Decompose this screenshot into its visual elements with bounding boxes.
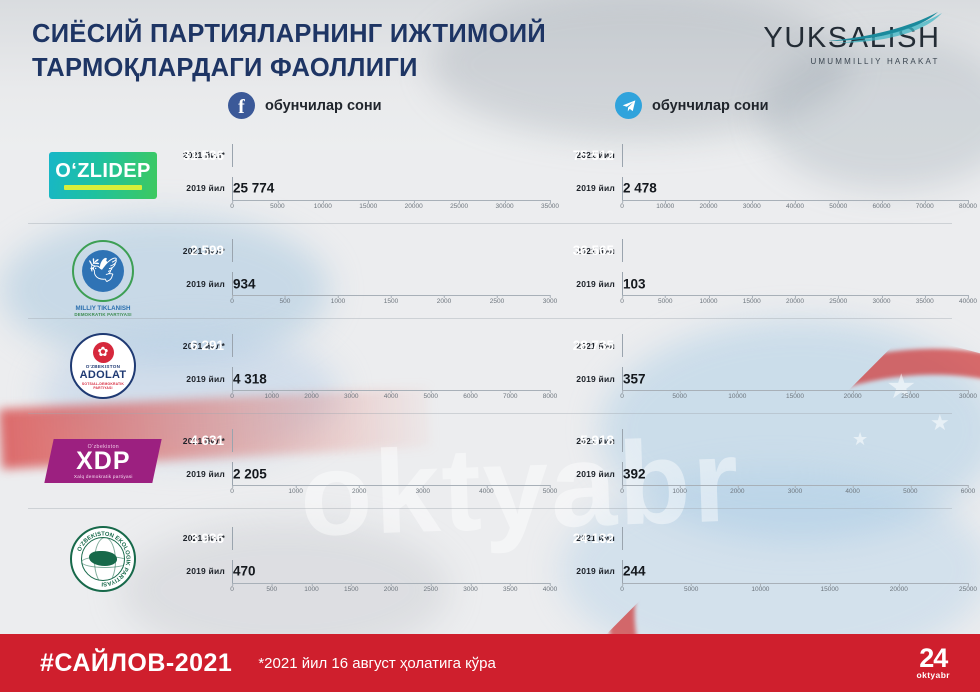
bar-label: 2019 йил <box>568 566 622 576</box>
axis-tick: 10000 <box>656 203 674 210</box>
bar-value: 4 631 <box>190 433 233 448</box>
adolat-logo-text: ADOLAT <box>80 370 127 381</box>
channel-number: 24 <box>916 646 950 670</box>
bar-value: 28 735 <box>573 338 623 353</box>
axis-tick: 2000 <box>384 586 398 593</box>
axis-tick: 0 <box>620 488 624 495</box>
axis-tick: 20000 <box>786 298 804 305</box>
bar-label: 2019 йил <box>568 279 622 289</box>
axis-tick: 6000 <box>961 488 975 495</box>
axis-tick: 5000 <box>672 393 686 400</box>
axis-tick: 1500 <box>384 298 398 305</box>
axis-tick: 3000 <box>344 393 358 400</box>
party-logo-ekologik: O‘ZBEKISTON EKOLOGIK PARTIYASI <box>28 509 178 608</box>
adolat-logo-top: O‘ZBEKISTON <box>86 364 121 369</box>
bar-value: 4 318 <box>233 371 267 386</box>
axis-tick: 30000 <box>743 203 761 210</box>
bar-value: 31 536 <box>183 148 233 163</box>
axis-tick: 30000 <box>872 298 890 305</box>
axis-tick: 15000 <box>821 586 839 593</box>
axis-tick: 5000 <box>543 488 557 495</box>
party-logo-xdp: O‘zbekiston XDP Xalq demokratik partiyas… <box>28 414 178 508</box>
axis-tick: 15000 <box>359 203 377 210</box>
yuksalish-logo-subtitle: UMUMMILLIY HARAKAT <box>798 57 952 66</box>
chart-ekologik-telegram: 2021 йил 24 132 2019 йил 244 0 5000 1000… <box>568 522 968 596</box>
axis-tick: 10000 <box>728 393 746 400</box>
facebook-header-label: обунчилар сони <box>265 98 382 114</box>
party-row-xdp: O‘zbekiston XDP Xalq demokratik partiyas… <box>28 413 952 508</box>
axis-tick: 4000 <box>543 586 557 593</box>
axis-tick: 3000 <box>416 488 430 495</box>
axis-tick: 2000 <box>304 393 318 400</box>
axis-tick: 8000 <box>543 393 557 400</box>
axis-tick: 10000 <box>699 298 717 305</box>
bar-label: 2019 йил <box>178 183 232 193</box>
party-row-adolat: ✿ O‘ZBEKISTON ADOLAT SOTSIAL-DEMOKRATIK … <box>28 318 952 413</box>
axis-tick: 5000 <box>424 393 438 400</box>
chart-milliy-facebook: 2021 йил* 2 599 2019 йил 934 0 500 1000 … <box>178 234 550 308</box>
axis-tick: 0 <box>230 203 234 210</box>
axis-tick: 10000 <box>314 203 332 210</box>
bar-label: 2019 йил <box>178 279 232 289</box>
channel-24-logo: 24 oktyabr <box>916 646 950 680</box>
chart-ekologik-facebook: 2021 йил* 3 936 2019 йил 470 0 500 1000 … <box>178 522 550 596</box>
axis-tick: 20000 <box>890 586 908 593</box>
bar-label: 2019 йил <box>178 374 232 384</box>
axis-tick: 0 <box>230 586 234 593</box>
bar-label: 2019 йил <box>568 374 622 384</box>
chart-milliy-telegram: 2021 йил 36 565 2019 йил 103 0 5000 1000… <box>568 234 968 308</box>
bar-value: 103 <box>623 276 646 291</box>
party-logo-ozlidep: O‘ZLIDEP <box>28 128 178 223</box>
ozlidep-logo-text: O‘ZLIDEP <box>55 161 150 181</box>
axis-tick: 40000 <box>786 203 804 210</box>
axis-tick: 0 <box>620 298 624 305</box>
axis-tick: 1000 <box>672 488 686 495</box>
bar-value: 25 774 <box>233 181 274 196</box>
bar-value: 36 565 <box>573 243 623 258</box>
axis-tick: 25000 <box>450 203 468 210</box>
chart-ozlidep-facebook: 2021 йил* 31 536 2019 йил 25 774 0 5000 … <box>178 139 550 213</box>
paper-plane-glyph <box>621 98 637 114</box>
axis-tick: 0 <box>620 393 624 400</box>
bar-label: 2019 йил <box>568 469 622 479</box>
axis-tick: 1000 <box>288 488 302 495</box>
facebook-icon: f <box>228 92 255 119</box>
title-line-1: СИЁСИЙ ПАРТИЯЛАРНИНГ ИЖТИМОИЙ <box>32 18 732 52</box>
chart-xdp-facebook: 2021 йил* 4 631 2019 йил 2 205 0 1000 20… <box>178 424 550 498</box>
telegram-icon <box>615 92 642 119</box>
axis-tick: 1000 <box>331 298 345 305</box>
bar-value: 2 599 <box>190 243 233 258</box>
bar-value: 3 936 <box>190 531 233 546</box>
axis-tick: 0 <box>620 203 624 210</box>
rose-icon: ✿ <box>93 342 114 363</box>
adolat-logo-subtitle: SOTSIAL-DEMOKRATIK PARTIYASI <box>72 382 134 391</box>
footer-hashtag: #САЙЛОВ-2021 <box>40 649 232 678</box>
axis-tick: 1000 <box>265 393 279 400</box>
axis-tick: 5000 <box>684 586 698 593</box>
bar-value: 2 478 <box>623 181 657 196</box>
axis-tick: 4000 <box>479 488 493 495</box>
chart-adolat-telegram: 2021 йил 28 735 2019 йил 357 0 5000 1000… <box>568 329 968 403</box>
bar-value: 934 <box>233 276 256 291</box>
footer-banner: #САЙЛОВ-2021 *2021 йил 16 август ҳолатиг… <box>0 634 980 692</box>
axis-tick: 40000 <box>959 298 977 305</box>
bar-value: 5 918 <box>580 433 623 448</box>
bar-label: 2019 йил <box>178 566 232 576</box>
axis-tick: 0 <box>230 298 234 305</box>
axis-tick: 7000 <box>503 393 517 400</box>
axis-tick: 2000 <box>352 488 366 495</box>
axis-tick: 30000 <box>959 393 977 400</box>
axis-tick: 35000 <box>916 298 934 305</box>
party-row-ozlidep: O‘ZLIDEP 2021 йил* 31 536 2019 йил 25 77… <box>28 128 952 223</box>
axis-tick: 4000 <box>845 488 859 495</box>
axis-tick: 5000 <box>270 203 284 210</box>
bird-icon: 🕊 <box>88 259 118 283</box>
party-logo-adolat: ✿ O‘ZBEKISTON ADOLAT SOTSIAL-DEMOKRATIK … <box>28 319 178 413</box>
title-line-2: ТАРМОҚЛАРДАГИ ФАОЛЛИГИ <box>32 52 732 86</box>
facebook-header: f обунчилар сони <box>228 92 382 119</box>
axis-tick: 35000 <box>541 203 559 210</box>
telegram-header: обунчилар сони <box>615 92 769 119</box>
axis-tick: 1500 <box>344 586 358 593</box>
axis-tick: 20000 <box>844 393 862 400</box>
xdp-logo-subtitle: Xalq demokratik partiyasi <box>74 473 133 478</box>
axis-tick: 25000 <box>901 393 919 400</box>
axis-tick: 6000 <box>463 393 477 400</box>
chart-xdp-telegram: 2021 йил 5 918 2019 йил 392 0 1000 2000 … <box>568 424 968 498</box>
swoosh-icon <box>826 10 946 44</box>
axis-tick: 10000 <box>751 586 769 593</box>
milliy-logo-subtitle: DEMOKRATIK PARTIYASI <box>74 312 131 317</box>
axis-tick: 3000 <box>543 298 557 305</box>
axis-tick: 0 <box>620 586 624 593</box>
axis-tick: 2500 <box>424 586 438 593</box>
axis-tick: 15000 <box>786 393 804 400</box>
party-row-milliy-tiklanish: 🕊 MILLIY TIKLANISH DEMOKRATIK PARTIYASI … <box>28 223 952 318</box>
page-title: СИЁСИЙ ПАРТИЯЛАРНИНГ ИЖТИМОИЙ ТАРМОҚЛАРД… <box>32 18 732 86</box>
bar-value: 24 132 <box>573 531 623 546</box>
page-header: СИЁСИЙ ПАРТИЯЛАРНИНГ ИЖТИМОИЙ ТАРМОҚЛАРД… <box>32 18 732 86</box>
axis-tick: 25000 <box>829 298 847 305</box>
yuksalish-logo: YUKSALISH UMUMMILLIY HARAKAT <box>752 22 952 66</box>
axis-tick: 0 <box>230 393 234 400</box>
bar-value: 392 <box>623 466 646 481</box>
axis-tick: 60000 <box>872 203 890 210</box>
axis-tick: 0 <box>230 488 234 495</box>
axis-tick: 50000 <box>829 203 847 210</box>
axis-tick: 3000 <box>463 586 477 593</box>
bar-label: 2019 йил <box>178 469 232 479</box>
axis-tick: 3500 <box>503 586 517 593</box>
bar-value: 6 291 <box>190 338 233 353</box>
bar-value: 470 <box>233 564 256 579</box>
footer-note: *2021 йил 16 август ҳолатига кўра <box>258 655 495 672</box>
axis-tick: 2000 <box>730 488 744 495</box>
party-logo-milliy-tiklanish: 🕊 MILLIY TIKLANISH DEMOKRATIK PARTIYASI <box>28 224 178 318</box>
axis-tick: 2000 <box>437 298 451 305</box>
bar-value: 244 <box>623 564 646 579</box>
axis-tick: 70000 <box>916 203 934 210</box>
party-row-ekologik: O‘ZBEKISTON EKOLOGIK PARTIYASI 2021 йил*… <box>28 508 952 608</box>
axis-tick: 80000 <box>959 203 977 210</box>
milliy-logo-text: MILLIY TIKLANISH <box>76 305 131 312</box>
axis-tick: 20000 <box>699 203 717 210</box>
axis-tick: 20000 <box>405 203 423 210</box>
axis-tick: 500 <box>266 586 277 593</box>
axis-tick: 1000 <box>304 586 318 593</box>
channel-name: oktyabr <box>916 670 950 680</box>
axis-tick: 30000 <box>496 203 514 210</box>
axis-tick: 4000 <box>384 393 398 400</box>
axis-tick: 2500 <box>490 298 504 305</box>
axis-tick: 500 <box>280 298 291 305</box>
chart-adolat-facebook: 2021 йил* 6 291 2019 йил 4 318 0 1000 20… <box>178 329 550 403</box>
axis-tick: 5000 <box>903 488 917 495</box>
xdp-logo-text: XDP <box>74 450 133 474</box>
axis-tick: 25000 <box>959 586 977 593</box>
bar-value: 75 512 <box>573 148 623 163</box>
facebook-glyph: f <box>238 97 245 117</box>
party-rows: O‘ZLIDEP 2021 йил* 31 536 2019 йил 25 77… <box>28 128 952 608</box>
bar-value: 2 205 <box>233 466 267 481</box>
axis-tick: 5000 <box>658 298 672 305</box>
axis-tick: 15000 <box>743 298 761 305</box>
chart-ozlidep-telegram: 2021 йил 75 512 2019 йил 2 478 0 10000 2… <box>568 139 968 213</box>
telegram-header-label: обунчилар сони <box>652 98 769 114</box>
bar-value: 357 <box>623 371 646 386</box>
axis-tick: 3000 <box>788 488 802 495</box>
bar-label: 2019 йил <box>568 183 622 193</box>
